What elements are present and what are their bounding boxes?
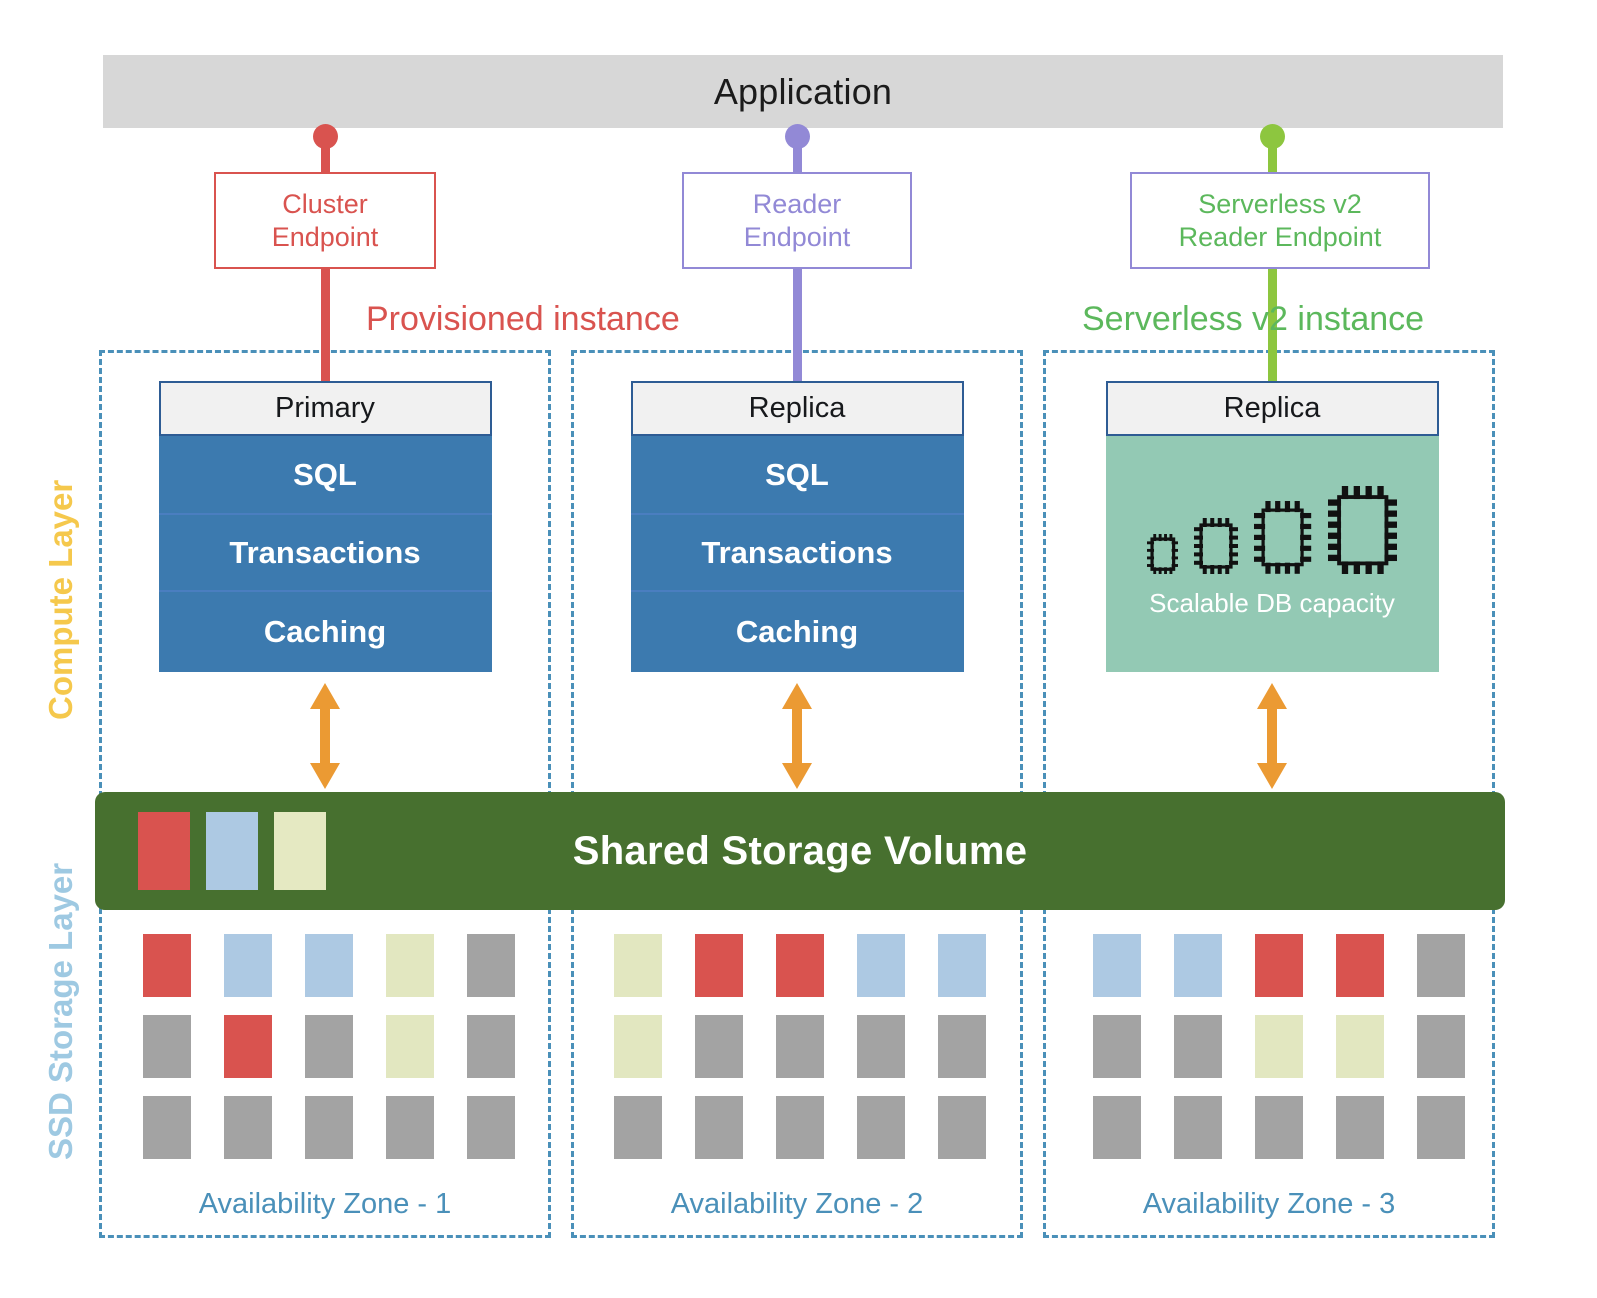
ssd-cell-az1-r3-c3 <box>305 1096 353 1159</box>
primary-node-title: Primary <box>159 381 492 436</box>
cpu-chip-icon-2 <box>1194 518 1238 574</box>
ssd-cell-az3-r2-c5 <box>1417 1015 1465 1078</box>
ssd-storage-layer-label: SSD Storage Layer <box>42 863 80 1160</box>
cluster-endpoint[interactable]: ClusterEndpoint <box>214 172 436 269</box>
shared-storage-volume-label: Shared Storage Volume <box>573 829 1028 874</box>
ssd-cell-az1-r1-c5 <box>467 934 515 997</box>
ssd-cell-az3-r3-c4 <box>1336 1096 1384 1159</box>
cpu-chip-icon-3 <box>1254 501 1311 574</box>
ssd-cell-az1-r3-c4 <box>386 1096 434 1159</box>
ssd-cell-az3-r3-c5 <box>1417 1096 1465 1159</box>
group-caption-2: Serverless v2 instance <box>1082 300 1424 339</box>
ssd-cell-az1-r1-c4 <box>386 934 434 997</box>
ssd-cell-az2-r3-c2 <box>695 1096 743 1159</box>
replica-node-az3-capacity-panel: Scalable DB capacity <box>1106 436 1439 672</box>
ssd-cell-az1-r2-c5 <box>467 1015 515 1078</box>
ssd-cell-az2-r2-c4 <box>857 1015 905 1078</box>
ssd-cell-az1-r3-c1 <box>143 1096 191 1159</box>
sync-arrow-az1 <box>306 683 344 789</box>
replica-node-az2-band-sql: SQL <box>631 436 964 515</box>
ssd-cell-az1-r1-c2 <box>224 934 272 997</box>
cpu-chip-icons <box>1147 436 1397 574</box>
primary-node[interactable]: PrimarySQLTransactionsCaching <box>159 381 492 672</box>
ssd-cell-az2-r1-c2 <box>695 934 743 997</box>
serverless-reader-endpoint-label: Serverless v2Reader Endpoint <box>1179 188 1382 254</box>
storage-mini-block-1 <box>138 812 190 890</box>
ssd-cell-az1-r2-c3 <box>305 1015 353 1078</box>
ssd-cell-az3-r1-c3 <box>1255 934 1303 997</box>
ssd-cell-az3-r1-c2 <box>1174 934 1222 997</box>
ssd-cell-az2-r2-c1 <box>614 1015 662 1078</box>
replica-node-az3-capacity-label: Scalable DB capacity <box>1149 588 1395 619</box>
reader-endpoint[interactable]: ReaderEndpoint <box>682 172 912 269</box>
shared-storage-volume: Shared Storage Volume <box>95 792 1505 910</box>
ssd-cell-az3-r1-c1 <box>1093 934 1141 997</box>
application-bar: Application <box>103 55 1503 128</box>
ssd-cell-az2-r3-c5 <box>938 1096 986 1159</box>
availability-zone-caption-2: Availability Zone - 2 <box>571 1188 1023 1221</box>
ssd-cell-az1-r3-c5 <box>467 1096 515 1159</box>
ssd-cell-az2-r3-c1 <box>614 1096 662 1159</box>
primary-node-band-sql: SQL <box>159 436 492 515</box>
replica-node-az2-title: Replica <box>631 381 964 436</box>
replica-node-az2-band-transactions: Transactions <box>631 515 964 592</box>
ssd-cell-az3-r2-c3 <box>1255 1015 1303 1078</box>
reader-endpoint-label: ReaderEndpoint <box>744 188 851 254</box>
ssd-cell-az2-r1-c4 <box>857 934 905 997</box>
ssd-cell-az2-r1-c3 <box>776 934 824 997</box>
ssd-cell-az1-r3-c2 <box>224 1096 272 1159</box>
ssd-cell-az3-r3-c2 <box>1174 1096 1222 1159</box>
ssd-cell-az3-r2-c2 <box>1174 1015 1222 1078</box>
primary-node-band-transactions: Transactions <box>159 515 492 592</box>
ssd-cell-az3-r1-c5 <box>1417 934 1465 997</box>
primary-node-band-caching: Caching <box>159 592 492 672</box>
cpu-chip-icon-4 <box>1328 486 1398 574</box>
ssd-cell-az2-r2-c3 <box>776 1015 824 1078</box>
ssd-cell-az2-r1-c5 <box>938 934 986 997</box>
serverless-reader-endpoint[interactable]: Serverless v2Reader Endpoint <box>1130 172 1430 269</box>
ssd-cell-az1-r2-c4 <box>386 1015 434 1078</box>
cluster-endpoint-label: ClusterEndpoint <box>272 188 379 254</box>
ssd-cell-az2-r3-c3 <box>776 1096 824 1159</box>
ssd-cell-az3-r2-c1 <box>1093 1015 1141 1078</box>
ssd-cell-az1-r2-c2 <box>224 1015 272 1078</box>
replica-node-az2-band-caching: Caching <box>631 592 964 672</box>
ssd-cell-az2-r3-c4 <box>857 1096 905 1159</box>
page-title: Application <box>714 71 892 113</box>
ssd-cell-az1-r2-c1 <box>143 1015 191 1078</box>
ssd-cell-az3-r1-c4 <box>1336 934 1384 997</box>
diagram-canvas: Compute Layer SSD Storage Layer Applicat… <box>0 0 1597 1298</box>
ssd-cell-az2-r2-c2 <box>695 1015 743 1078</box>
replica-node-az2[interactable]: ReplicaSQLTransactionsCaching <box>631 381 964 672</box>
ssd-cell-az3-r2-c4 <box>1336 1015 1384 1078</box>
compute-layer-label: Compute Layer <box>42 480 80 720</box>
storage-mini-block-3 <box>274 812 326 890</box>
connector-dot-reader-endpoint <box>785 124 810 149</box>
storage-mini-block-2 <box>206 812 258 890</box>
ssd-cell-az2-r1-c1 <box>614 934 662 997</box>
ssd-cell-az3-r3-c3 <box>1255 1096 1303 1159</box>
replica-node-az3[interactable]: Replica Scalable DB capacity <box>1106 381 1439 672</box>
sync-arrow-az2 <box>778 683 816 789</box>
cpu-chip-icon-1 <box>1147 534 1179 574</box>
connector-dot-cluster-endpoint <box>313 124 338 149</box>
availability-zone-caption-1: Availability Zone - 1 <box>99 1188 551 1221</box>
ssd-cell-az1-r1-c3 <box>305 934 353 997</box>
connector-dot-serverless-reader-endpoint <box>1260 124 1285 149</box>
ssd-cell-az1-r1-c1 <box>143 934 191 997</box>
availability-zone-caption-3: Availability Zone - 3 <box>1043 1188 1495 1221</box>
replica-node-az3-title: Replica <box>1106 381 1439 436</box>
ssd-cell-az3-r3-c1 <box>1093 1096 1141 1159</box>
sync-arrow-az3 <box>1253 683 1291 789</box>
ssd-cell-az2-r2-c5 <box>938 1015 986 1078</box>
group-caption-1: Provisioned instance <box>366 300 680 339</box>
